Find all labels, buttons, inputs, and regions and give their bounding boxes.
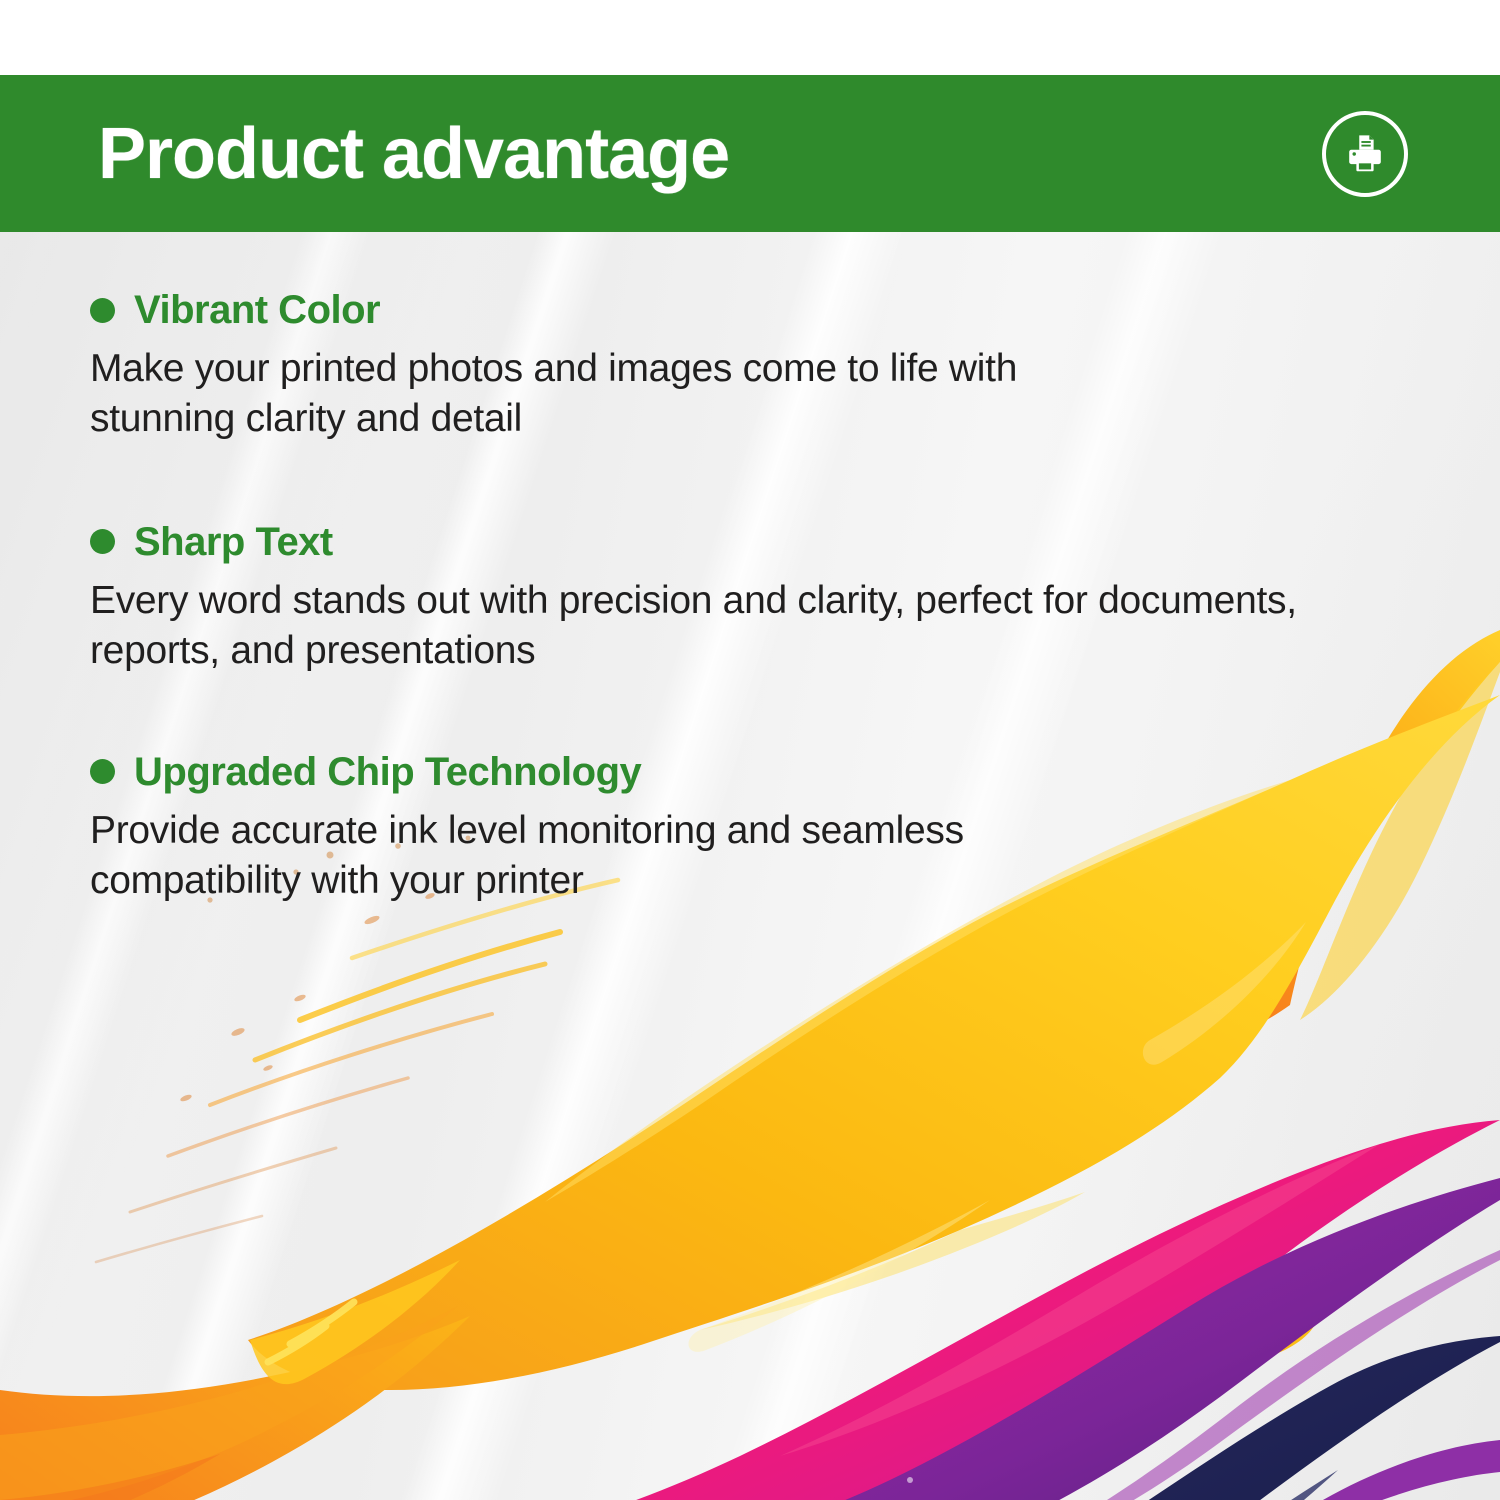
header-banner: Product advantage bbox=[0, 75, 1500, 232]
feature-item-sharp-text: Sharp Text Every word stands out with pr… bbox=[0, 521, 1500, 676]
feature-list: Vibrant Color Make your printed photos a… bbox=[0, 232, 1500, 905]
product-advantage-infographic: Product advantage Vibrant Color bbox=[0, 0, 1500, 1500]
feature-heading: Upgraded Chip Technology bbox=[134, 751, 641, 793]
printer-icon bbox=[1342, 131, 1388, 177]
green-dot-bullet-icon bbox=[90, 298, 115, 323]
feature-item-upgraded-chip-technology: Upgraded Chip Technology Provide accurat… bbox=[0, 751, 1500, 906]
feature-description: Provide accurate ink level monitoring an… bbox=[90, 806, 1150, 906]
green-dot-bullet-icon bbox=[90, 529, 115, 554]
feature-description: Make your printed photos and images come… bbox=[90, 344, 1150, 444]
green-dot-bullet-icon bbox=[90, 759, 115, 784]
feature-heading-row: Vibrant Color bbox=[90, 289, 1410, 331]
feature-description: Every word stands out with precision and… bbox=[90, 576, 1410, 676]
feature-item-vibrant-color: Vibrant Color Make your printed photos a… bbox=[0, 289, 1500, 444]
feature-heading: Sharp Text bbox=[134, 521, 333, 563]
feature-heading-row: Upgraded Chip Technology bbox=[90, 751, 1410, 793]
printer-icon-badge bbox=[1322, 111, 1408, 197]
feature-heading-row: Sharp Text bbox=[90, 521, 1410, 563]
feature-heading: Vibrant Color bbox=[134, 289, 380, 331]
page-title: Product advantage bbox=[98, 118, 729, 190]
